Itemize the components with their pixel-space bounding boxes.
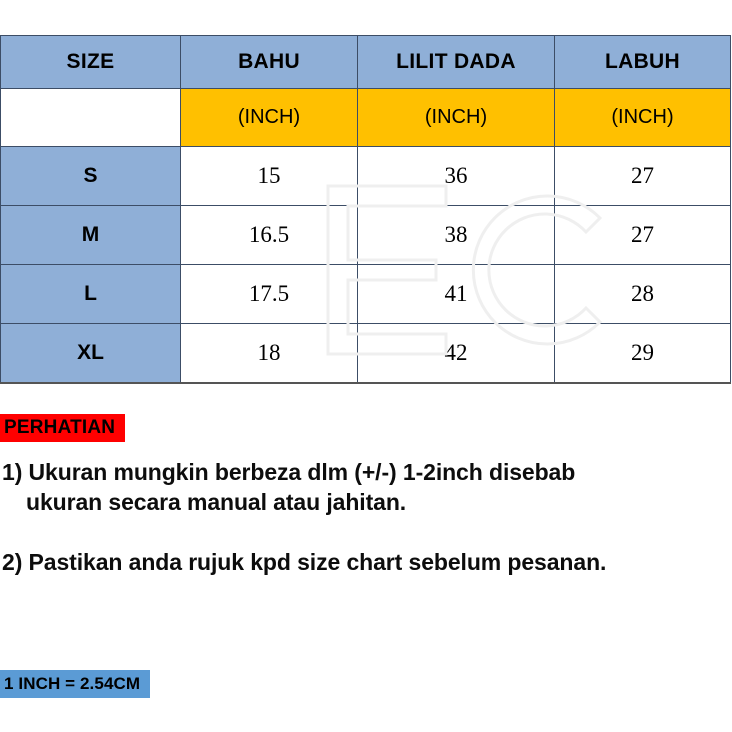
cell-lilit-dada: 41 bbox=[358, 265, 555, 324]
cell-lilit-dada: 36 bbox=[358, 147, 555, 206]
cell-lilit-dada: 38 bbox=[358, 206, 555, 265]
unit-cell-labuh: (INCH) bbox=[555, 89, 731, 147]
table-row: L 17.5 41 28 bbox=[1, 265, 731, 324]
cell-labuh: 27 bbox=[555, 206, 731, 265]
size-chart-table: SIZE BAHU LILIT DADA LABUH (INCH) (INCH)… bbox=[0, 35, 731, 384]
note-item-2: 2) Pastikan anda rujuk kpd size chart se… bbox=[0, 547, 732, 577]
unit-cell-bahu: (INCH) bbox=[181, 89, 358, 147]
unit-cell-size-blank bbox=[1, 89, 181, 147]
cell-size: M bbox=[1, 206, 181, 265]
notes-section: PERHATIAN 1) Ukuran mungkin berbeza dlm … bbox=[0, 414, 732, 577]
cell-bahu: 17.5 bbox=[181, 265, 358, 324]
size-chart-table-container: SIZE BAHU LILIT DADA LABUH (INCH) (INCH)… bbox=[0, 35, 730, 384]
cell-size: S bbox=[1, 147, 181, 206]
cell-labuh: 28 bbox=[555, 265, 731, 324]
table-row: S 15 36 27 bbox=[1, 147, 731, 206]
note-1-line-2: ukuran secara manual atau jahitan. bbox=[2, 487, 732, 517]
table-row: M 16.5 38 27 bbox=[1, 206, 731, 265]
column-header-size: SIZE bbox=[1, 36, 181, 89]
cell-bahu: 18 bbox=[181, 324, 358, 384]
table-row: XL 18 42 29 bbox=[1, 324, 731, 384]
warning-badge: PERHATIAN bbox=[0, 414, 125, 442]
note-1-line-1: 1) Ukuran mungkin berbeza dlm (+/-) 1-2i… bbox=[2, 459, 575, 485]
note-2-line-1: 2) Pastikan anda rujuk kpd size chart se… bbox=[2, 549, 606, 575]
cell-size: L bbox=[1, 265, 181, 324]
table-header-row: SIZE BAHU LILIT DADA LABUH bbox=[1, 36, 731, 89]
cell-lilit-dada: 42 bbox=[358, 324, 555, 384]
unit-conversion-badge: 1 INCH = 2.54CM bbox=[0, 670, 150, 698]
cell-labuh: 29 bbox=[555, 324, 731, 384]
column-header-labuh: LABUH bbox=[555, 36, 731, 89]
unit-cell-lilit-dada: (INCH) bbox=[358, 89, 555, 147]
cell-bahu: 15 bbox=[181, 147, 358, 206]
cell-bahu: 16.5 bbox=[181, 206, 358, 265]
note-item-1: 1) Ukuran mungkin berbeza dlm (+/-) 1-2i… bbox=[0, 457, 732, 518]
column-header-lilit-dada: LILIT DADA bbox=[358, 36, 555, 89]
cell-labuh: 27 bbox=[555, 147, 731, 206]
cell-size: XL bbox=[1, 324, 181, 384]
column-header-bahu: BAHU bbox=[181, 36, 358, 89]
table-units-row: (INCH) (INCH) (INCH) bbox=[1, 89, 731, 147]
